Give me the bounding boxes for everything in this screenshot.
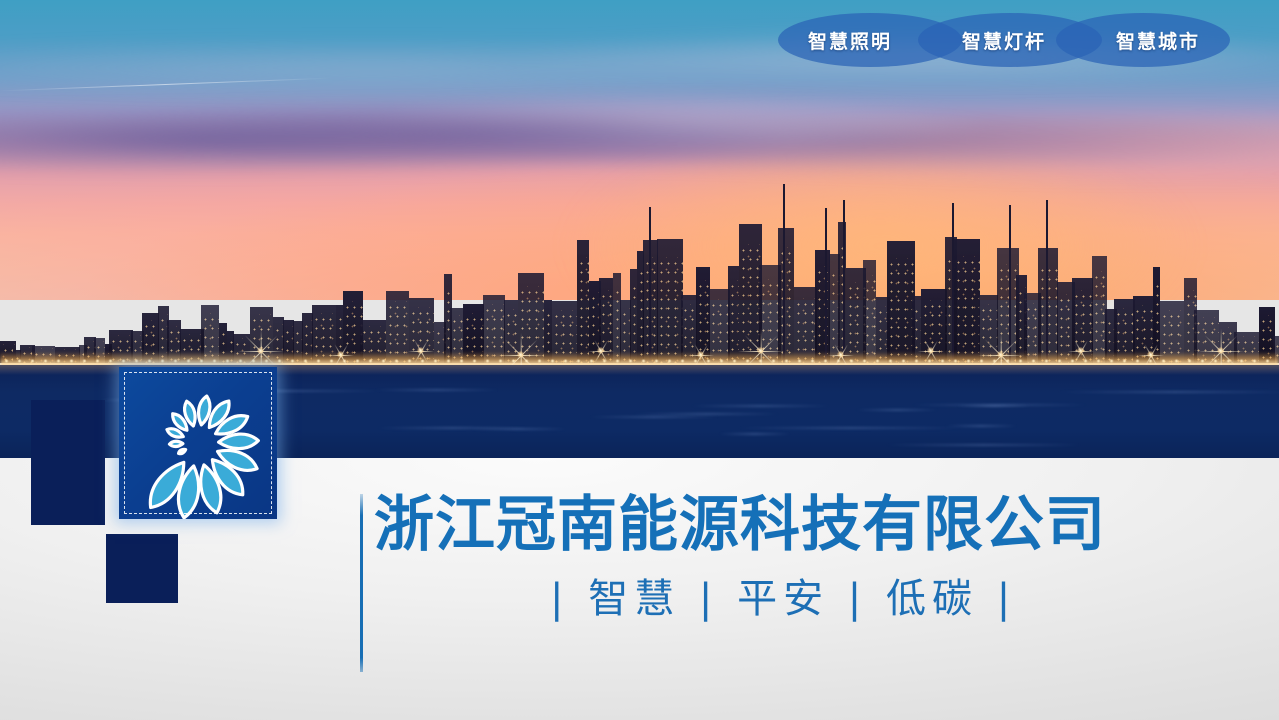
- badge-tag-smart-pole[interactable]: 智慧灯杆: [962, 27, 1046, 54]
- skyline-building: [577, 240, 589, 363]
- skyline-building: [728, 266, 739, 363]
- title-block: 浙江冠南能源科技有限公司 | 智慧 | 平安 | 低碳 |: [374, 492, 1154, 621]
- badge-tag-smart-city[interactable]: 智慧城市: [1116, 27, 1200, 54]
- skyline-building: [696, 267, 710, 363]
- water-streak: [945, 425, 1017, 427]
- building-spire: [783, 184, 785, 363]
- badge-tag-smart-lighting[interactable]: 智慧照明: [808, 27, 892, 54]
- logo-dashed-border: [124, 372, 272, 514]
- water-streak: [886, 444, 1081, 446]
- decor-navy-block-lower: [106, 534, 178, 603]
- water-streak: [377, 427, 528, 429]
- water-streak: [1058, 391, 1279, 393]
- building-spire: [1009, 205, 1011, 363]
- water-streak: [374, 389, 499, 391]
- skyline-building: [657, 239, 683, 363]
- skyline-building: [518, 273, 544, 363]
- water-streak: [856, 409, 937, 411]
- company-name-title: 浙江冠南能源科技有限公司: [374, 492, 1154, 559]
- badge-tag-list: 智慧照明 智慧灯杆 智慧城市: [778, 13, 1230, 67]
- building-spire: [649, 207, 651, 363]
- service-tags-badge: 智慧照明 智慧灯杆 智慧城市: [778, 13, 1230, 67]
- company-tagline: | 智慧 | 平安 | 低碳 |: [550, 577, 1154, 621]
- skyline-building: [954, 239, 980, 363]
- skyline-building: [630, 269, 637, 363]
- building-spire: [825, 208, 827, 363]
- building-spire: [843, 200, 845, 363]
- skyline-building: [863, 260, 876, 363]
- water-streak: [738, 427, 963, 429]
- water-streak: [589, 416, 718, 418]
- skyline-building: [815, 250, 830, 363]
- water-streak: [912, 404, 1087, 406]
- water-streak: [691, 405, 830, 407]
- skyline-building: [1072, 278, 1093, 363]
- title-accent-rule: [360, 494, 363, 672]
- city-skyline: [0, 148, 1279, 363]
- water-streak: [719, 433, 790, 435]
- skyline-building: [887, 241, 915, 363]
- decor-navy-block-upper: [31, 400, 105, 525]
- presentation-slide: 智慧照明 智慧灯杆 智慧城市 浙江冠南能源科技有限公司 | 智慧 | 平安 | …: [0, 0, 1279, 720]
- water-streak: [633, 413, 779, 415]
- building-spire: [1046, 200, 1048, 363]
- skyline-building: [1153, 267, 1160, 363]
- skyline-building: [599, 278, 613, 363]
- skyline-building: [778, 228, 794, 363]
- company-logo: [119, 367, 277, 519]
